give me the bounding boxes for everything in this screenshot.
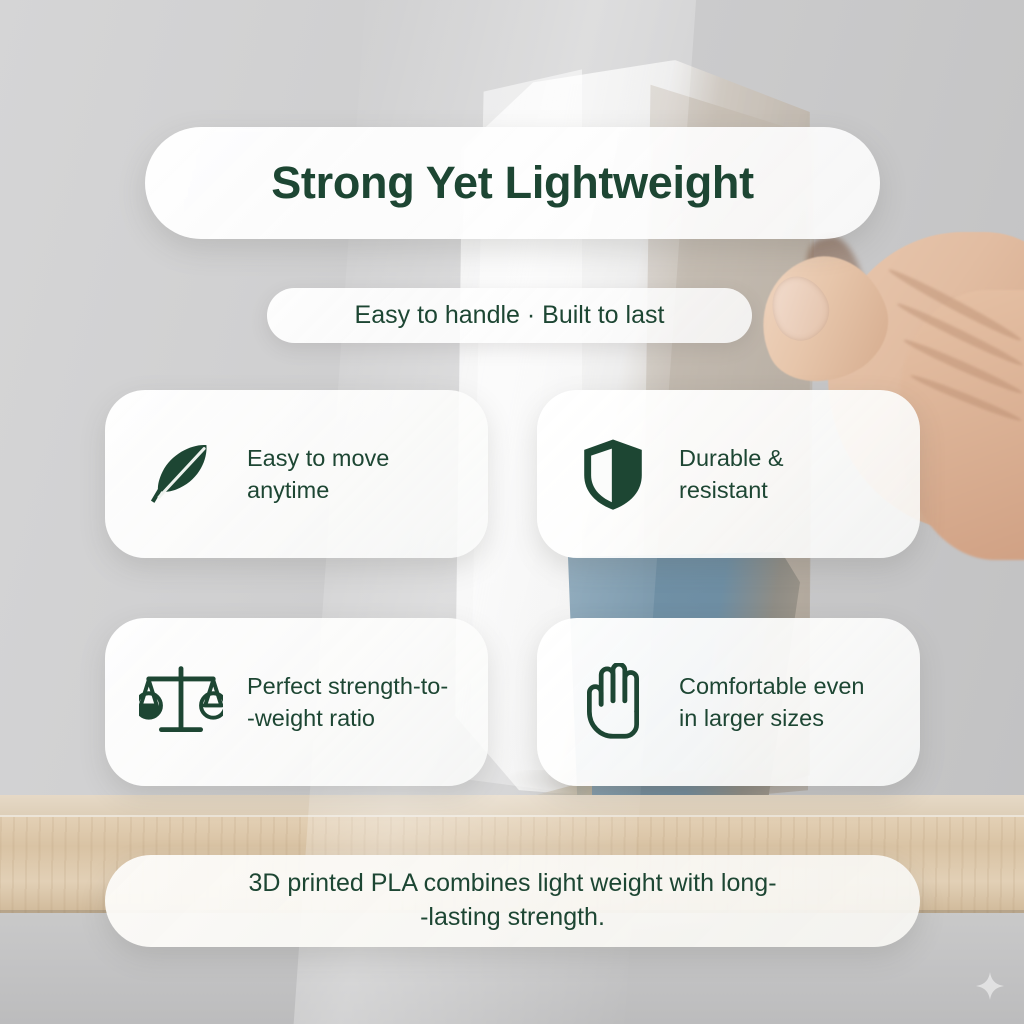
caption-line-2: -lasting strength.: [420, 903, 605, 931]
feather-icon: [139, 437, 223, 511]
open-hand-icon: [571, 663, 655, 741]
feature-line-2: -weight ratio: [247, 705, 375, 731]
feature-card-text: Perfect strength-to- -weight ratio: [247, 670, 448, 735]
feature-card-text: Durable & resistant: [679, 442, 784, 507]
sparkle-icon: [976, 972, 1004, 1000]
feature-line-1: Easy to move: [247, 445, 389, 471]
feature-card-strength-to-weight[interactable]: Perfect strength-to- -weight ratio: [105, 618, 488, 786]
feature-line-2: in larger sizes: [679, 705, 824, 731]
caption-line-1: 3D printed PLA combines light weight wit…: [248, 869, 776, 897]
infographic-canvas: Strong Yet Lightweight Easy to handle · …: [0, 0, 1024, 1024]
caption-pill: 3D printed PLA combines light weight wit…: [105, 855, 920, 947]
feature-line-1: Comfortable even: [679, 673, 865, 699]
feature-line-2: resistant: [679, 477, 768, 503]
caption-text: 3D printed PLA combines light weight wit…: [248, 867, 776, 935]
feature-card-text: Comfortable even in larger sizes: [679, 670, 865, 735]
feature-line-1: Durable &: [679, 445, 784, 471]
shield-icon: [571, 436, 655, 512]
feature-card-durable[interactable]: Durable & resistant: [537, 390, 920, 558]
balance-scale-icon: [139, 664, 223, 740]
feature-card-text: Easy to move anytime: [247, 442, 389, 507]
feature-line-1: Perfect strength-to-: [247, 673, 448, 699]
feature-line-2: anytime: [247, 477, 329, 503]
feature-card-easy-to-move[interactable]: Easy to move anytime: [105, 390, 488, 558]
feature-card-comfortable[interactable]: Comfortable even in larger sizes: [537, 618, 920, 786]
